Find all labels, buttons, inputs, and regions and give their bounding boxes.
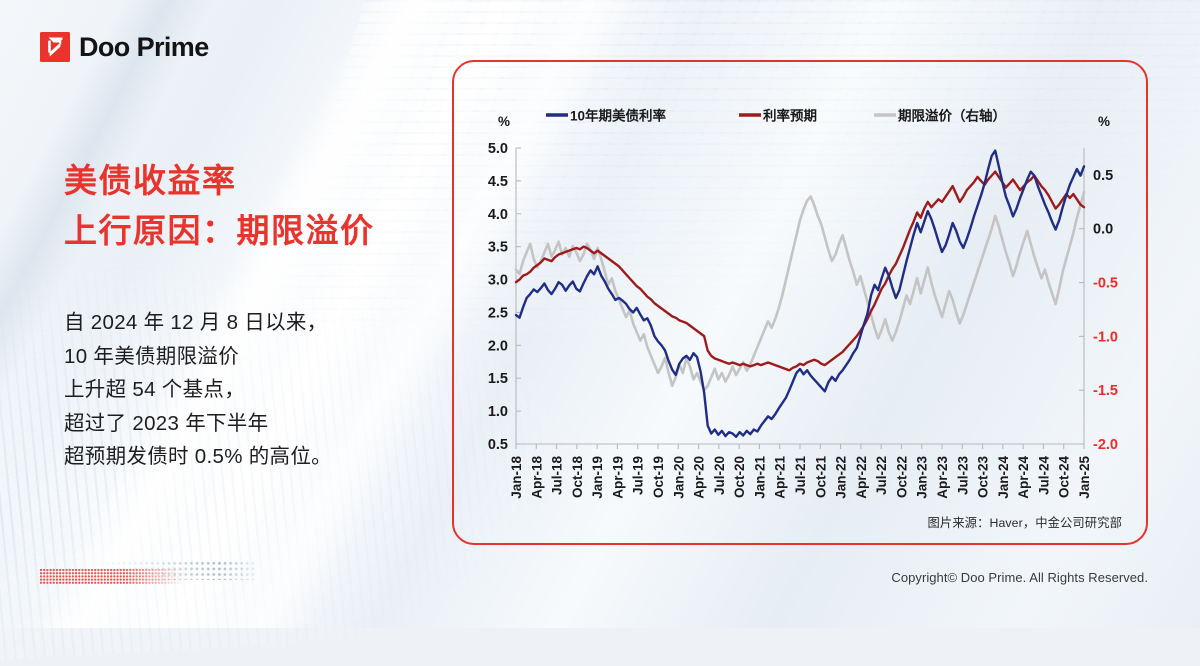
- yield-chart: 0.51.01.52.02.53.03.54.04.55.0%0.50.0-0.…: [454, 62, 1146, 543]
- body-copy-line: 10 年美债期限溢价: [64, 340, 332, 374]
- x-axis-tick-label: Jul-20: [712, 456, 727, 495]
- copyright-text: Copyright© Doo Prime. All Rights Reserve…: [891, 570, 1148, 585]
- legend-label: 期限溢价（右轴）: [898, 108, 1006, 124]
- legend-label: 利率预期: [763, 108, 817, 124]
- left-axis-tick-label: 4.0: [488, 207, 508, 223]
- body-copy-line: 超预期发债时 0.5% 的高位。: [64, 440, 332, 474]
- legend-label: 10年期美债利率: [570, 108, 667, 124]
- right-axis-tick-label: -1.5: [1093, 383, 1118, 399]
- x-axis-tick-label: Jan-21: [752, 456, 767, 499]
- decorative-halftone-bar: [40, 556, 255, 590]
- left-axis-tick-label: 4.5: [488, 174, 508, 190]
- left-axis-tick-label: 3.5: [488, 240, 508, 256]
- right-axis-tick-label: -1.0: [1093, 329, 1118, 345]
- left-axis-tick-label: 3.0: [488, 273, 508, 289]
- decorative-dots-red: [40, 569, 185, 584]
- page-title: 美债收益率 上行原因：期限溢价: [64, 156, 375, 256]
- body-copy-line: 自 2024 年 12 月 8 日以来，: [64, 306, 332, 340]
- left-axis-tick-label: 0.5: [488, 437, 508, 453]
- body-copy-line: 超过了 2023 年下半年: [64, 407, 332, 441]
- x-axis-tick-label: Jul-21: [793, 456, 808, 496]
- x-axis-tick-label: Jan-20: [671, 456, 686, 499]
- left-axis-unit: %: [498, 114, 510, 129]
- left-axis-tick-label: 5.0: [488, 141, 508, 157]
- x-axis-tick-label: Jan-18: [509, 456, 524, 499]
- x-axis-tick-label: Apr-22: [854, 456, 869, 499]
- x-axis-tick-label: Apr-21: [773, 456, 788, 499]
- x-axis-tick-label: Oct-22: [894, 456, 909, 498]
- page-title-line-1: 美债收益率: [64, 156, 375, 206]
- x-axis-tick-label: Oct-19: [651, 456, 666, 498]
- x-axis-tick-label: Jan-24: [996, 456, 1011, 499]
- x-axis-tick-label: Jan-19: [590, 456, 605, 499]
- x-axis-tick-label: Oct-18: [570, 456, 585, 499]
- x-axis-tick-label: Apr-24: [1016, 456, 1031, 499]
- chart-series-line: [516, 151, 1084, 437]
- x-axis-tick-label: Jul-24: [1036, 456, 1051, 496]
- right-axis-tick-label: 0.5: [1093, 168, 1113, 184]
- left-axis-tick-label: 2.0: [488, 338, 508, 354]
- chart-series-line: [516, 192, 1084, 390]
- doo-prime-square-mark-icon: [40, 32, 70, 62]
- x-axis-tick-label: Apr-18: [529, 456, 544, 499]
- x-axis-tick-label: Jan-23: [915, 456, 930, 499]
- right-axis-unit: %: [1098, 114, 1110, 129]
- body-copy: 自 2024 年 12 月 8 日以来， 10 年美债期限溢价 上升超 54 个…: [64, 306, 332, 474]
- x-axis-tick-label: Jul-22: [874, 456, 889, 495]
- x-axis-tick-label: Apr-19: [610, 456, 625, 499]
- x-axis-tick-label: Jan-25: [1077, 456, 1092, 499]
- right-axis-tick-label: -2.0: [1093, 437, 1118, 453]
- left-axis-tick-label: 1.5: [488, 371, 508, 387]
- x-axis-tick-label: Oct-24: [1057, 456, 1072, 499]
- x-axis-tick-label: Apr-20: [692, 456, 707, 499]
- x-axis-tick-label: Jul-19: [631, 456, 646, 495]
- chart-source-note: 图片来源：Haver，中金公司研究部: [928, 513, 1122, 531]
- x-axis-tick-label: Jul-18: [550, 456, 565, 496]
- x-axis-tick-label: Apr-23: [935, 456, 950, 499]
- chart-series-line: [516, 172, 1084, 371]
- x-axis-tick-label: Oct-23: [976, 456, 991, 499]
- chart-card: 0.51.01.52.02.53.03.54.04.55.0%0.50.0-0.…: [452, 60, 1148, 545]
- x-axis-tick-label: Jul-23: [955, 456, 970, 496]
- x-axis-tick-label: Oct-21: [813, 456, 828, 499]
- x-axis-tick-label: Jan-22: [834, 456, 849, 499]
- body-copy-line: 上升超 54 个基点，: [64, 373, 332, 407]
- brand-logo-text: Doo Prime: [79, 32, 209, 62]
- page-title-line-2: 上行原因：期限溢价: [64, 206, 375, 256]
- left-axis-tick-label: 2.5: [488, 305, 508, 321]
- x-axis-tick-label: Oct-20: [732, 456, 747, 498]
- left-axis-tick-label: 1.0: [488, 404, 508, 420]
- right-axis-tick-label: -0.5: [1093, 276, 1118, 292]
- right-axis-tick-label: 0.0: [1093, 222, 1113, 238]
- brand-logo[interactable]: Doo Prime: [40, 32, 209, 62]
